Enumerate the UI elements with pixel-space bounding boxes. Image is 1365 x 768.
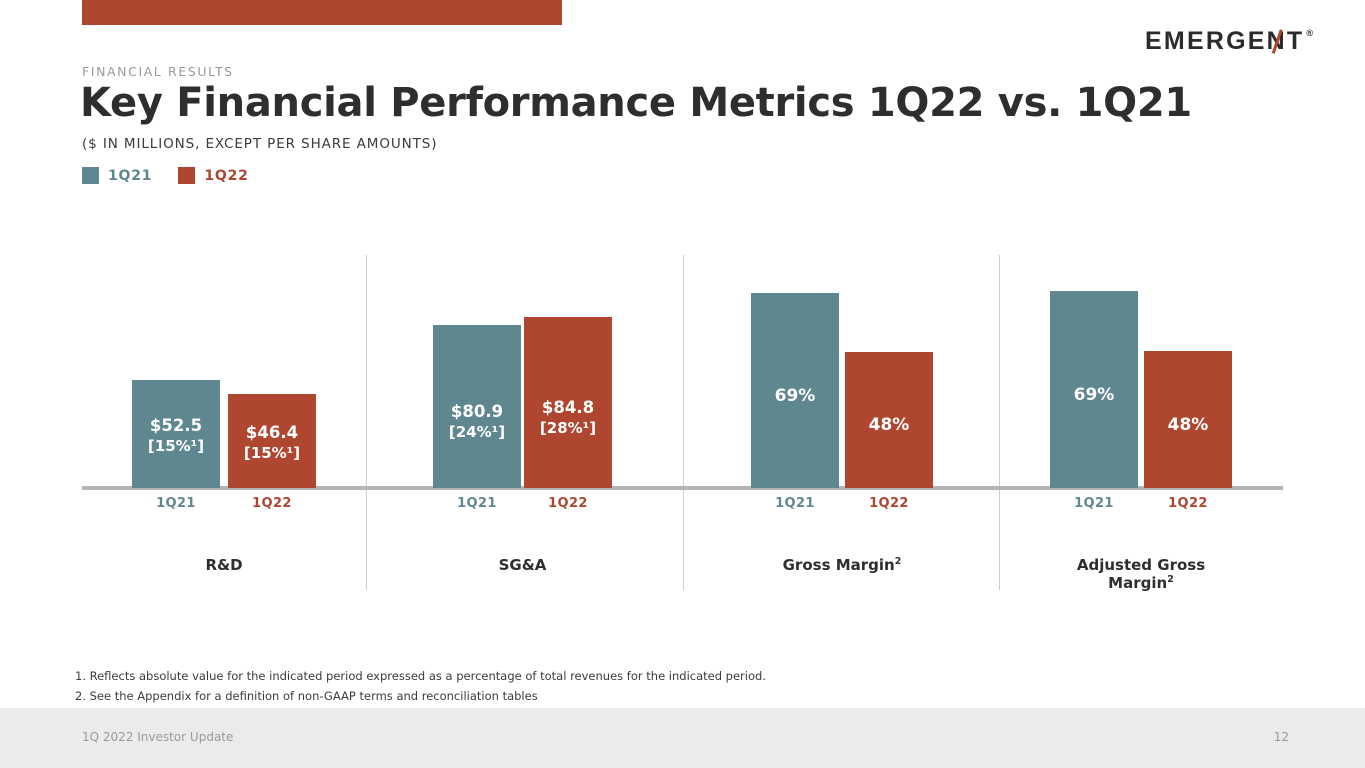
bar-value-adjusted-gross-margin-1q21: 69% xyxy=(1050,384,1138,406)
bar-label-gross-margin-1q22: 48% xyxy=(845,414,933,436)
tick-label-rd-1q21: 1Q21 xyxy=(132,496,220,511)
bar-pct-rd-1q21: [15%¹] xyxy=(132,437,220,457)
tick-label-rd-1q22: 1Q22 xyxy=(228,496,316,511)
bar-value-sga-1q22: $84.8 xyxy=(524,397,612,419)
emergent-logo: EMERGE N T ® xyxy=(1145,27,1313,56)
tick-label-sga-1q22: 1Q22 xyxy=(524,496,612,511)
bar-label-rd-1q21: $52.5 [15%¹] xyxy=(132,415,220,457)
tick-label-adjusted-gross-margin-1q22: 1Q22 xyxy=(1144,496,1232,511)
footnotes: 1. Reflects absolute value for the indic… xyxy=(75,667,766,707)
page-title: Key Financial Performance Metrics 1Q22 v… xyxy=(80,80,1192,126)
bar-pct-sga-1q22: [28%¹] xyxy=(524,419,612,439)
bar-value-gross-margin-1q22: 48% xyxy=(845,414,933,436)
bar-sga-1q21: $80.9 [24%¹] xyxy=(433,325,521,488)
group-divider-3 xyxy=(999,255,1000,590)
bar-value-rd-1q21: $52.5 xyxy=(132,415,220,437)
footnote-1: 1. Reflects absolute value for the indic… xyxy=(75,667,766,687)
chart-legend: 1Q21 1Q22 xyxy=(82,167,249,184)
group-label-gross-margin-footnote-ref: 2 xyxy=(895,556,902,567)
bar-value-sga-1q21: $80.9 xyxy=(433,401,521,423)
bar-rd-1q22: $46.4 [15%¹] xyxy=(228,394,316,488)
logo-text-after: T xyxy=(1287,27,1304,56)
legend-label-1q21: 1Q21 xyxy=(108,168,152,184)
tick-label-gross-margin-1q21: 1Q21 xyxy=(751,496,839,511)
group-label-gross-margin-text: Gross Margin xyxy=(783,556,895,574)
bar-adjusted-gross-margin-1q22: 48% xyxy=(1144,351,1232,488)
logo-text-before: EMERGE xyxy=(1145,27,1267,56)
group-label-adjusted-gross-margin-footnote-ref: 2 xyxy=(1167,574,1174,585)
bar-value-gross-margin-1q21: 69% xyxy=(751,385,839,407)
tick-label-adjusted-gross-margin-1q21: 1Q21 xyxy=(1050,496,1138,511)
registered-trademark-icon: ® xyxy=(1306,29,1313,38)
bar-label-rd-1q22: $46.4 [15%¹] xyxy=(228,422,316,464)
legend-item-1q22: 1Q22 xyxy=(178,167,248,184)
bar-sga-1q22: $84.8 [28%¹] xyxy=(524,317,612,488)
tick-label-sga-1q21: 1Q21 xyxy=(433,496,521,511)
logo-letter-n: N xyxy=(1267,27,1287,56)
group-label-sga-text: SG&A xyxy=(499,556,547,574)
page-subtitle: ($ IN MILLIONS, EXCEPT PER SHARE AMOUNTS… xyxy=(82,136,437,152)
legend-label-1q22: 1Q22 xyxy=(204,168,248,184)
group-label-adjusted-gross-margin: Adjusted Gross Margin2 xyxy=(1050,556,1232,592)
bar-rd-1q21: $52.5 [15%¹] xyxy=(132,380,220,488)
group-label-rd-text: R&D xyxy=(205,556,242,574)
bar-gross-margin-1q21: 69% xyxy=(751,293,839,488)
chart-baseline-axis xyxy=(82,486,1283,490)
bar-label-sga-1q21: $80.9 [24%¹] xyxy=(433,401,521,443)
group-label-sga: SG&A xyxy=(433,556,612,574)
group-divider-1 xyxy=(366,255,367,590)
group-divider-2 xyxy=(683,255,684,590)
top-accent-banner xyxy=(82,0,562,25)
bar-label-adjusted-gross-margin-1q21: 69% xyxy=(1050,384,1138,406)
bar-label-gross-margin-1q21: 69% xyxy=(751,385,839,407)
bar-pct-sga-1q21: [24%¹] xyxy=(433,423,521,443)
legend-swatch-1q22 xyxy=(178,167,195,184)
bar-label-adjusted-gross-margin-1q22: 48% xyxy=(1144,414,1232,436)
bar-value-adjusted-gross-margin-1q22: 48% xyxy=(1144,414,1232,436)
bar-label-sga-1q22: $84.8 [28%¹] xyxy=(524,397,612,439)
group-label-gross-margin: Gross Margin2 xyxy=(751,556,933,574)
group-label-adjusted-gross-margin-text: Adjusted Gross Margin xyxy=(1077,556,1205,592)
group-label-rd: R&D xyxy=(132,556,316,574)
eyebrow-label: FINANCIAL RESULTS xyxy=(82,64,234,79)
legend-swatch-1q21 xyxy=(82,167,99,184)
footer-deck-name: 1Q 2022 Investor Update xyxy=(82,730,233,744)
bar-adjusted-gross-margin-1q21: 69% xyxy=(1050,291,1138,488)
bar-pct-rd-1q22: [15%¹] xyxy=(228,444,316,464)
bar-gross-margin-1q22: 48% xyxy=(845,352,933,488)
footer-page-number: 12 xyxy=(1274,730,1289,744)
bar-value-rd-1q22: $46.4 xyxy=(228,422,316,444)
legend-item-1q21: 1Q21 xyxy=(82,167,152,184)
tick-label-gross-margin-1q22: 1Q22 xyxy=(845,496,933,511)
footnote-2: 2. See the Appendix for a definition of … xyxy=(75,687,766,707)
